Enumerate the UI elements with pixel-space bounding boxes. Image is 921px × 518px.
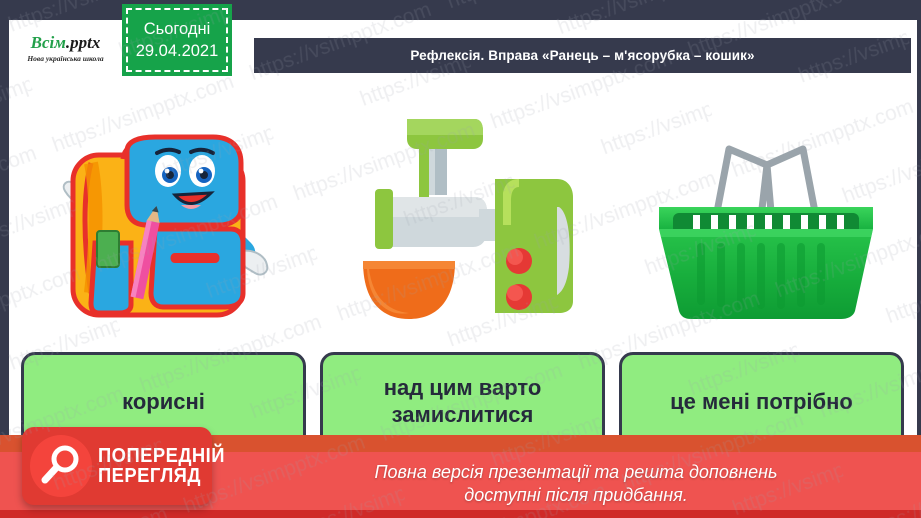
- slide-root: Всім.pptx Нова українська школа Сьогодні…: [0, 0, 921, 518]
- meat-grinder-icon: [343, 103, 583, 333]
- banner-base-strip: [0, 510, 921, 518]
- date-badge: Сьогодні 29.04.2021: [122, 4, 232, 76]
- illustrations-row: [9, 80, 917, 355]
- page-title: Рефлексія. Вправа «Ранець – м'ясорубка –…: [410, 48, 754, 63]
- shopping-basket-icon: [641, 103, 891, 333]
- preview-badge-labels: ПОПЕРЕДНІЙ ПЕРЕГЛЯД: [98, 446, 236, 487]
- date-badge-label: Сьогодні: [144, 18, 211, 40]
- backpack-illustration: [9, 80, 311, 355]
- magnifier-icon: [30, 435, 92, 497]
- preview-badge[interactable]: ПОПЕРЕДНІЙ ПЕРЕГЛЯД: [22, 427, 212, 505]
- purchase-banner-text: Повна версія презентації та решта доповн…: [240, 458, 912, 510]
- logo-wordmark: Всім.pptx: [31, 34, 101, 51]
- preview-badge-line1: ПОПЕРЕДНІЙ: [98, 446, 225, 466]
- purchase-banner-line1: Повна версія презентації та решта доповн…: [374, 461, 777, 484]
- answer-box-useful-label: корисні: [122, 389, 205, 416]
- backpack-icon: [35, 93, 285, 343]
- logo-wordmark-secondary: .pptx: [66, 33, 100, 52]
- answer-box-think-about-label: над цим варто замислитися: [331, 375, 594, 429]
- meat-grinder-illustration: [312, 80, 614, 355]
- preview-badge-line2: ПЕРЕГЛЯД: [98, 466, 225, 486]
- purchase-banner-line2: доступні після придбання.: [464, 484, 687, 507]
- logo-wordmark-primary: Всім: [31, 33, 66, 52]
- answer-box-needed-label: це мені потрібно: [670, 389, 853, 416]
- logo-subtitle: Нова українська школа: [27, 54, 103, 63]
- shopping-basket-illustration: [615, 80, 917, 355]
- header-bar: Рефлексія. Вправа «Ранець – м'ясорубка –…: [254, 38, 911, 73]
- date-badge-date: 29.04.2021: [136, 40, 219, 62]
- logo-panel: Всім.pptx Нова українська школа: [9, 20, 122, 76]
